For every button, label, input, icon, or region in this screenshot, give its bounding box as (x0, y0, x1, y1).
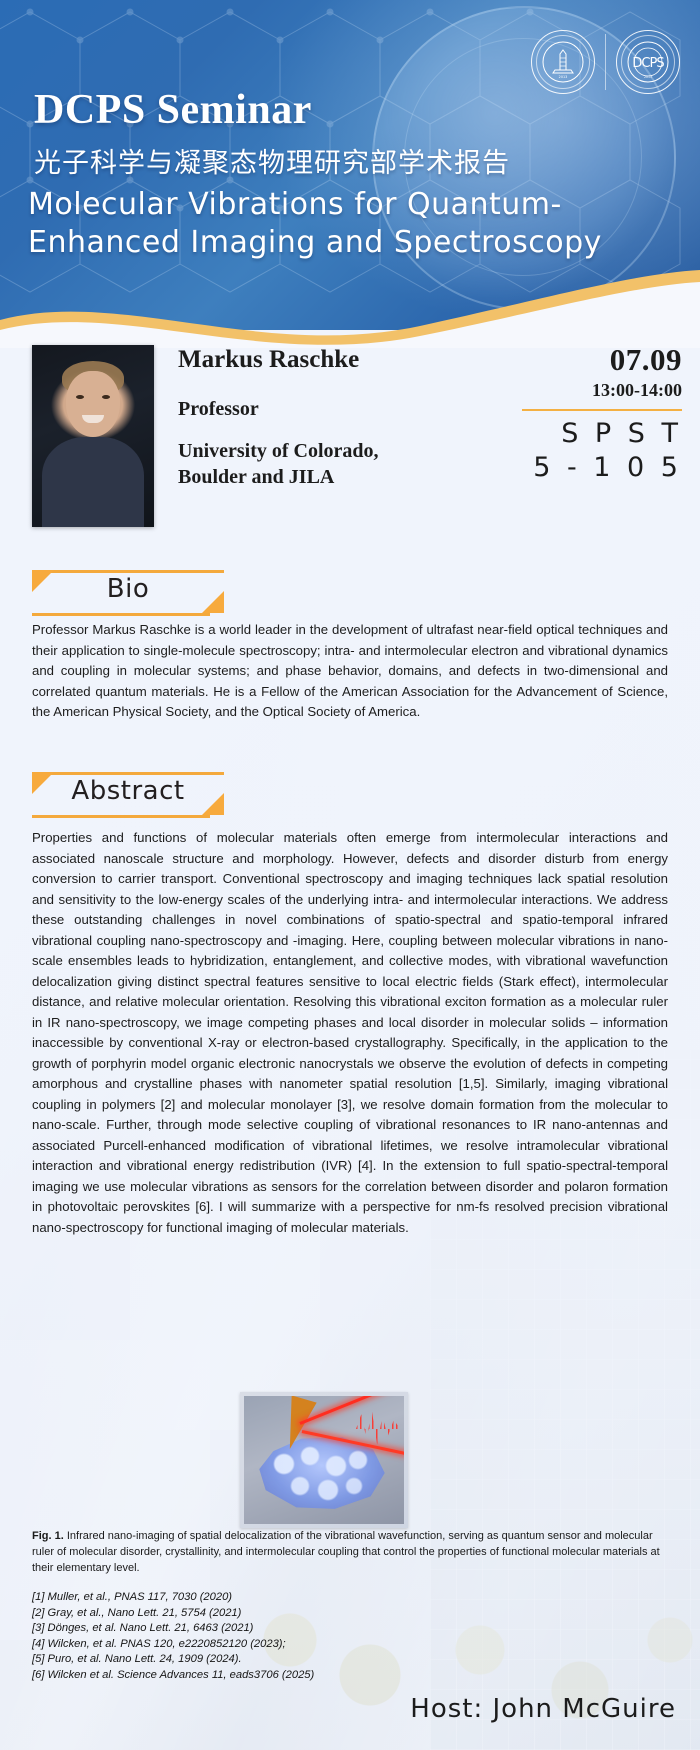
seminar-poster: 2013 DCPS 2013 DCPS Seminar 光子科学与凝聚态物理研究… (0, 0, 700, 1750)
event-time: 13:00-14:00 (497, 380, 682, 401)
reference-item: [4] Wilcken, et al. PNAS 120, e222085212… (32, 1637, 452, 1653)
abstract-label: Abstract (32, 776, 224, 806)
speaker-title: Professor (178, 398, 259, 421)
talk-title: Molecular Vibrations for Quantum-Enhance… (28, 186, 676, 262)
event-venue-building: S P S T (497, 417, 682, 451)
reference-item: [5] Puro, et al. Nano Lett. 24, 1909 (20… (32, 1652, 452, 1668)
page-title: DCPS Seminar (34, 86, 312, 134)
avatar-eye-right (102, 395, 110, 399)
event-divider (522, 409, 682, 411)
references-list: [1] Muller, et al., PNAS 117, 7030 (2020… (32, 1590, 452, 1684)
reference-item: [3] Dönges, et al. Nano Lett. 21, 6463 (… (32, 1621, 452, 1637)
wave-divider (0, 268, 700, 348)
abstract-bar-top (46, 772, 224, 775)
speaker-block: Markus Raschke Professor University of C… (0, 340, 700, 545)
figure-illustration (244, 1396, 404, 1524)
reference-item: [2] Gray, et al., Nano Lett. 21, 5754 (2… (32, 1606, 452, 1622)
figure-caption: Fig. 1. Infrared nano-imaging of spatial… (32, 1528, 668, 1576)
subtitle-chinese: 光子科学与凝聚态物理研究部学术报告 (34, 141, 510, 180)
avatar-torso (42, 437, 144, 527)
shanghaitech-university-logo-icon: 2013 (531, 30, 595, 94)
svg-text:DCPS: DCPS (632, 56, 664, 71)
avatar (32, 345, 154, 527)
event-venue-room: 5 - 1 0 5 (497, 451, 682, 485)
dcps-department-logo-icon: DCPS 2013 (616, 30, 680, 94)
avatar-face (66, 371, 120, 437)
reference-item: [6] Wilcken et al. Science Advances 11, … (32, 1668, 452, 1684)
figure-image (240, 1392, 408, 1528)
speaker-name: Markus Raschke (178, 346, 359, 374)
logo-group: 2013 DCPS 2013 (531, 30, 680, 94)
bio-bar-top (46, 570, 224, 573)
abstract-text: Properties and functions of molecular ma… (32, 828, 668, 1238)
bio-text: Professor Markus Raschke is a world lead… (32, 620, 668, 723)
svg-text:2013: 2013 (644, 75, 652, 79)
logo-divider (605, 34, 606, 90)
speaker-affiliation: University of Colorado, Boulder and JILA (178, 438, 398, 490)
bio-label: Bio (32, 574, 224, 604)
event-details: 07.09 13:00-14:00 S P S T 5 - 1 0 5 (497, 342, 682, 485)
university-seal-mark: 2013 (541, 40, 585, 84)
abstract-bar-bottom (32, 815, 210, 818)
figure-molecule-blobs (266, 1442, 378, 1504)
avatar-eye-left (76, 395, 84, 399)
bio-bar-bottom (32, 613, 210, 616)
svg-text:2013: 2013 (559, 75, 568, 79)
section-header-abstract: Abstract (32, 772, 224, 818)
section-header-bio: Bio (32, 570, 224, 616)
figure-caption-text: Infrared nano-imaging of spatial delocal… (32, 1530, 660, 1574)
figure-caption-label: Fig. 1. (32, 1530, 64, 1542)
dcps-seal-mark: DCPS 2013 (626, 40, 670, 84)
reference-item: [1] Muller, et al., PNAS 117, 7030 (2020… (32, 1590, 452, 1606)
host-line: Host: John McGuire (410, 1694, 676, 1724)
event-date: 07.09 (497, 342, 682, 378)
